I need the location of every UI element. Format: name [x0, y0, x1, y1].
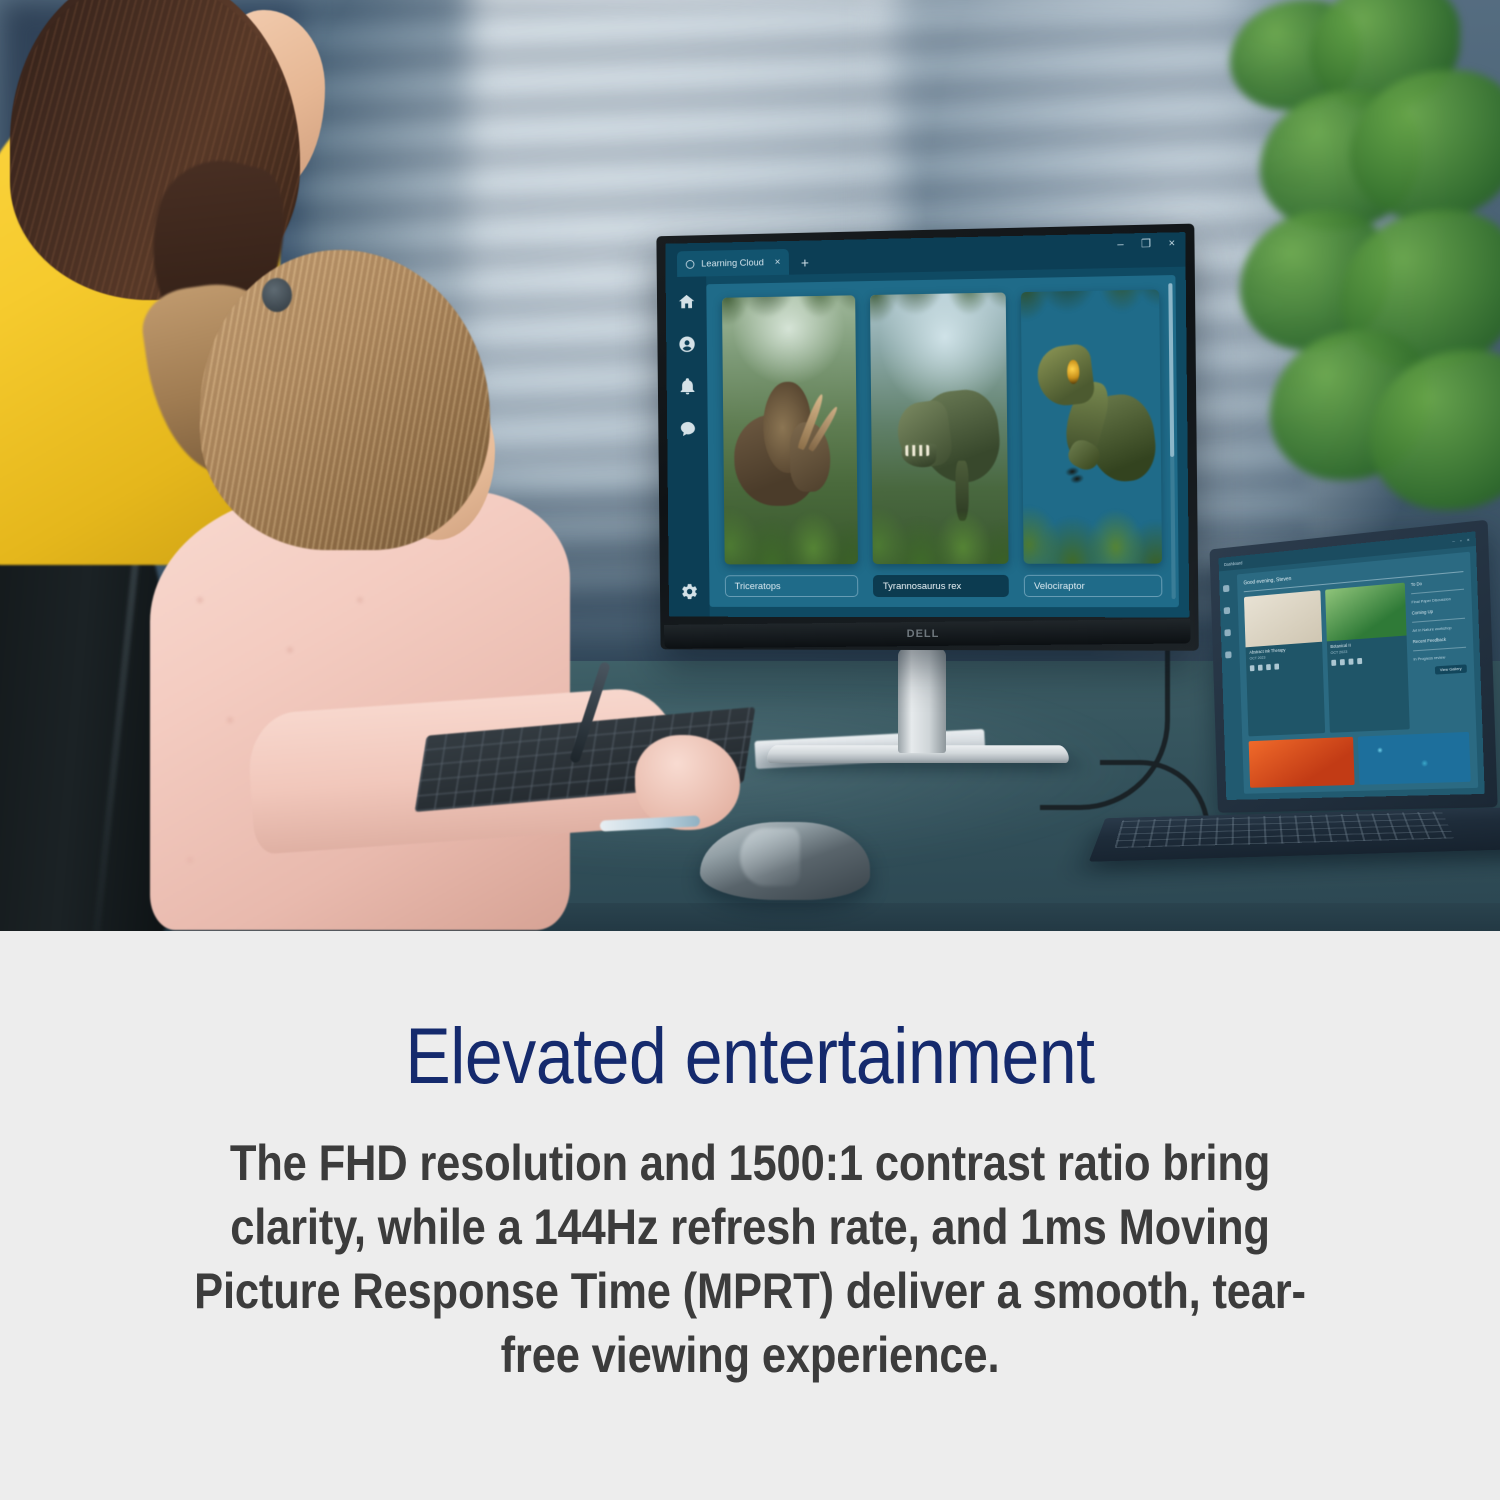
dell-monitor: DELL Learning Cloud × + – ❐: [653, 230, 1193, 650]
label-chip-triceratops[interactable]: Triceratops: [725, 575, 858, 597]
more-icon[interactable]: [1357, 658, 1362, 664]
laptop-home-icon[interactable]: [1223, 585, 1229, 592]
app-sidebar: [666, 276, 710, 616]
laptop-card-grid: Abstract Ink Therapy OCT 2023: [1244, 583, 1410, 737]
dinosaur-card[interactable]: [1021, 290, 1162, 564]
view-gallery-button[interactable]: View Gallery: [1435, 664, 1467, 674]
vertical-scrollbar[interactable]: [1168, 283, 1175, 599]
browser-tab[interactable]: Learning Cloud ×: [677, 249, 789, 277]
minimize-icon[interactable]: –: [1117, 240, 1123, 251]
close-icon[interactable]: ×: [775, 257, 781, 268]
help-icon[interactable]: [1339, 659, 1344, 665]
laptop-screen: Dashboard – ▫ ×: [1219, 531, 1485, 800]
maximize-icon[interactable]: ❐: [1141, 239, 1151, 250]
panel-item-coming-up[interactable]: Art in Nature workshop: [1412, 625, 1465, 633]
window-controls: – ❐ ×: [1117, 238, 1175, 250]
brush-icon[interactable]: [1266, 664, 1271, 670]
learning-cloud-app: Learning Cloud × + – ❐ ×: [665, 232, 1189, 617]
new-tab-button[interactable]: +: [801, 254, 809, 270]
laptop-dashboard-app: Dashboard – ▫ ×: [1219, 531, 1485, 800]
potted-plant: [1200, 0, 1500, 520]
tab-title: Learning Cloud: [701, 257, 764, 269]
profile-icon[interactable]: [677, 335, 696, 354]
laptop-thumbnail-orange[interactable]: [1249, 737, 1355, 788]
laptop-minimize-icon[interactable]: –: [1452, 538, 1455, 543]
monitor-screen: Learning Cloud × + – ❐ ×: [665, 232, 1189, 617]
laptop-card-thumbnail: [1325, 583, 1407, 642]
product-feature-page: DELL Learning Cloud × + – ❐: [0, 0, 1500, 1500]
laptop: Dashboard – ▫ ×: [1180, 535, 1500, 895]
dinosaur-label-row: Triceratops Tyrannosaurus rex Velocirapt…: [725, 575, 1163, 597]
circle-favicon-icon: [686, 259, 695, 268]
panel-heading-todo: To Do: [1411, 577, 1464, 587]
girl-hair-tie: [262, 278, 292, 312]
bell-icon[interactable]: [678, 377, 697, 396]
page-title: Elevated entertainment: [105, 1016, 1395, 1095]
laptop-body: Good evening, Steven Abstract Ink Therap…: [1219, 546, 1485, 800]
laptop-window-controls: – ▫ ×: [1452, 537, 1469, 544]
laptop-chat-icon[interactable]: [1225, 651, 1231, 658]
chat-icon[interactable]: [678, 420, 697, 439]
laptop-maximize-icon[interactable]: ▫: [1460, 537, 1462, 542]
app-body: Triceratops Tyrannosaurus rex Velocirapt…: [666, 267, 1190, 618]
panel-item-todo[interactable]: Final Paper Discussion: [1411, 596, 1464, 605]
help-icon[interactable]: [1258, 665, 1263, 671]
page-description: The FHD resolution and 1500:1 contrast r…: [171, 1131, 1328, 1387]
velociraptor-image[interactable]: [1021, 290, 1162, 564]
brush-icon[interactable]: [1348, 659, 1353, 665]
home-icon[interactable]: [677, 292, 696, 311]
label-chip-velociraptor[interactable]: Velociraptor: [1024, 575, 1163, 597]
dinosaur-card-grid: [722, 290, 1162, 565]
app-content: Triceratops Tyrannosaurus rex Velocirapt…: [706, 275, 1179, 607]
laptop-card[interactable]: Abstract Ink Therapy OCT 2023: [1244, 590, 1325, 736]
more-icon[interactable]: [1274, 664, 1279, 670]
dell-logo: DELL: [907, 628, 940, 640]
panel-heading-coming-up: Coming Up: [1412, 606, 1465, 615]
triceratops-image[interactable]: [722, 295, 858, 564]
gear-icon[interactable]: [680, 582, 699, 601]
panel-heading-feedback: Recent Feedback: [1413, 635, 1466, 644]
laptop-bottom-thumbnails: [1249, 732, 1471, 788]
laptop-side-panels: To Do Final Paper Discussion Coming Up A…: [1411, 577, 1469, 729]
laptop-profile-icon[interactable]: [1224, 607, 1230, 614]
lifestyle-photo: DELL Learning Cloud × + – ❐: [0, 0, 1500, 931]
label-chip-tyrannosaurus-rex[interactable]: Tyrannosaurus rex: [873, 575, 1009, 597]
tyrannosaurus-image[interactable]: [870, 292, 1009, 564]
marketing-text-panel: Elevated entertainment The FHD resolutio…: [0, 931, 1500, 1500]
save-icon[interactable]: [1250, 665, 1255, 671]
panel-item-feedback[interactable]: In Progress review: [1413, 654, 1466, 662]
dinosaur-card[interactable]: [722, 295, 858, 564]
save-icon[interactable]: [1331, 660, 1336, 666]
dinosaur-card[interactable]: [870, 292, 1009, 564]
laptop-close-icon[interactable]: ×: [1467, 537, 1470, 542]
laptop-thumbnail-blue[interactable]: [1357, 732, 1470, 785]
window-close-icon[interactable]: ×: [1168, 238, 1175, 249]
laptop-card-thumbnail: [1244, 590, 1322, 647]
laptop-card[interactable]: Botanical II OCT 2023: [1325, 583, 1410, 733]
laptop-columns: Abstract Ink Therapy OCT 2023: [1244, 577, 1469, 736]
mouse-highlight: [740, 828, 800, 886]
laptop-content: Good evening, Steven Abstract Ink Therap…: [1237, 552, 1478, 794]
laptop-bell-icon[interactable]: [1224, 629, 1230, 636]
monitor-stand-neck: [898, 648, 946, 753]
laptop-tab-title[interactable]: Dashboard: [1224, 560, 1242, 567]
